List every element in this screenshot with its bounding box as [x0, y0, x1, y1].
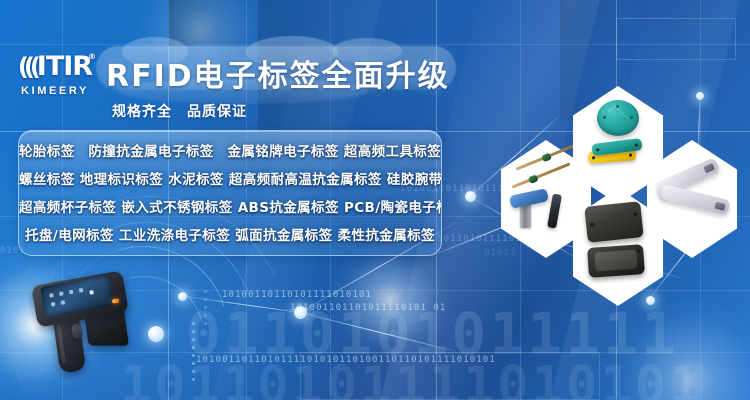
anti-metal-tags-hex[interactable] [566, 188, 670, 306]
logo-mark: (((ITIR ® [14, 52, 96, 82]
reader-trigger [71, 323, 83, 338]
kimeery-logo[interactable]: (((ITIR ® KIMEERY [14, 52, 96, 108]
tag-row: 超高频杯子标签 嵌入式不锈钢标签 ABS抗金属标签 PCB/陶瓷电子标签 [19, 194, 441, 222]
product-tag-list-panel: 轮胎标签 防撞抗金属电子标签 金属铭牌电子标签 超高频工具标签 螺丝标签 地理标… [18, 130, 442, 256]
dot-column-2 [204, 290, 207, 330]
handheld-rfid-reader[interactable] [26, 272, 158, 384]
rfid-promo-banner: 0110101011111 10110101111010101 10100110… [0, 0, 750, 400]
tag-row: 轮胎标签 防撞抗金属电子标签 金属铭牌电子标签 超高频工具标签 [19, 138, 441, 166]
tag-row: 螺丝标签 地理标识标签 水泥标签 超高频耐高温抗金属标签 硅胶腕带 [19, 166, 441, 194]
tag-row: 托盘/电网标签 工业洗涤电子标签 弧面抗金属标签 柔性抗金属标签 [19, 222, 441, 250]
dot-column [192, 322, 195, 386]
dark-tray-tag [587, 244, 645, 278]
logo-wave-icon: ((( [18, 53, 36, 81]
teal-disc-tag [597, 100, 639, 136]
dark-rect-tag [584, 201, 643, 243]
registered-icon: ® [88, 53, 95, 61]
logo-mark-text: ITIR [37, 51, 92, 82]
page-title: RFID电子标签全面升级 [106, 51, 450, 95]
logo-brand-name: KIMEERY [14, 85, 96, 97]
page-subtitle: 规格齐全 品质保证 [112, 101, 247, 121]
